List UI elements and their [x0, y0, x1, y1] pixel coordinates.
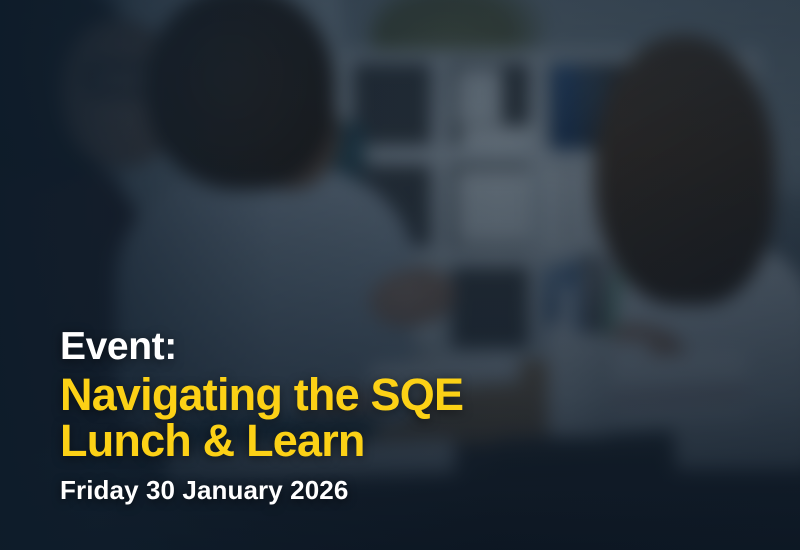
banner-content: Event: Navigating the SQE Lunch & Learn … [60, 327, 463, 506]
event-headline-line-1: Navigating the SQE [60, 372, 463, 418]
event-eyebrow-label: Event: [60, 327, 463, 366]
event-headline-line-2: Lunch & Learn [60, 418, 463, 464]
event-date: Friday 30 January 2026 [60, 475, 463, 506]
event-banner: Event: Navigating the SQE Lunch & Learn … [0, 0, 800, 550]
event-headline: Navigating the SQE Lunch & Learn [60, 372, 463, 465]
